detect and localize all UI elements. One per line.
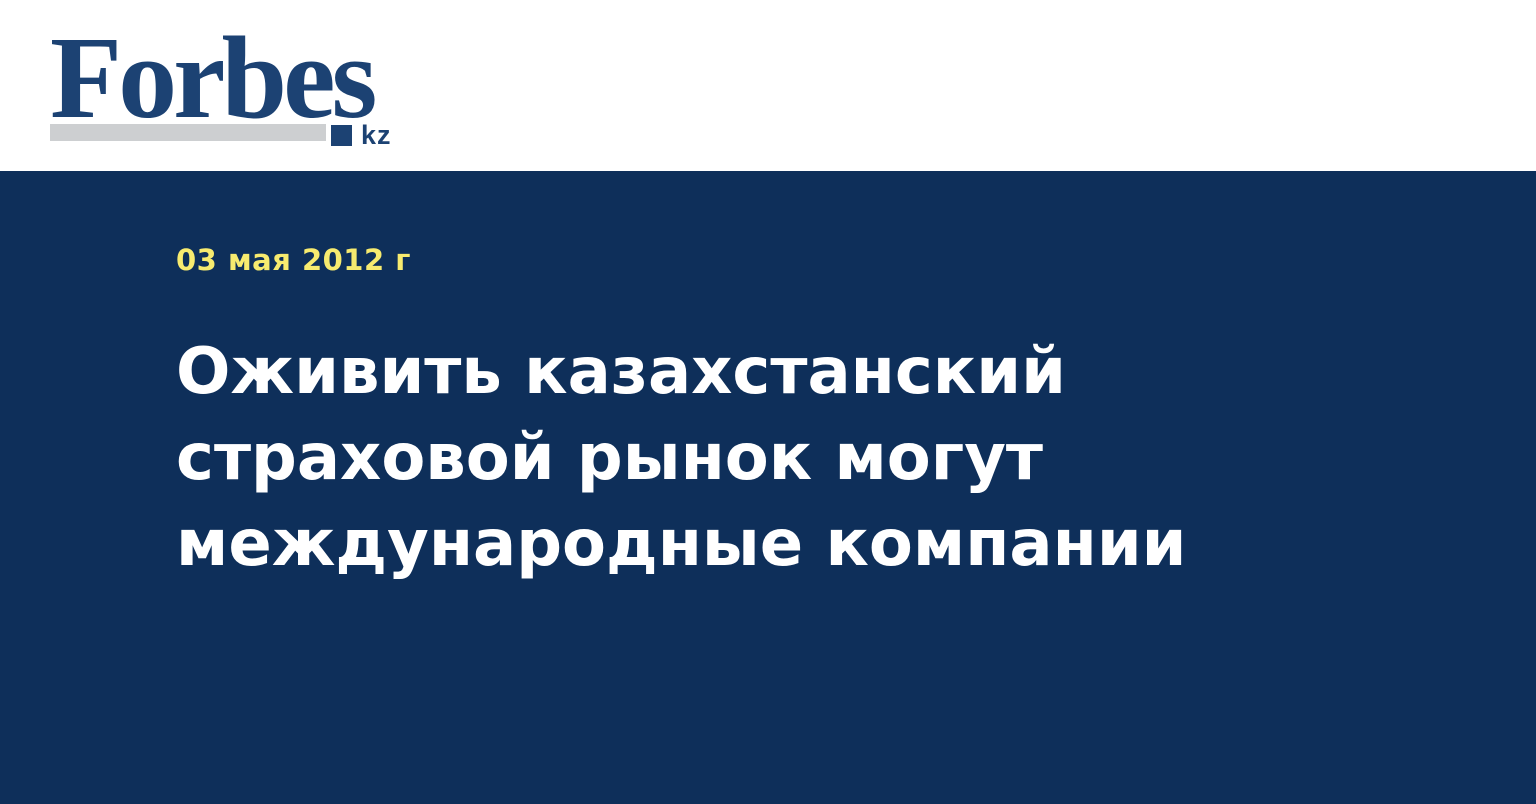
- site-header: Forbes kz: [0, 0, 1536, 171]
- brand-rule: [50, 124, 326, 141]
- forbes-kz-logo[interactable]: Forbes kz: [50, 22, 420, 144]
- article-hero-content: 03 мая 2012 г Оживить казахстанский стра…: [176, 243, 1356, 587]
- article-date: 03 мая 2012 г: [176, 243, 1356, 277]
- brand-suffix-label: kz: [361, 122, 392, 149]
- page-title: Оживить казахстанский страховой рынок мо…: [176, 329, 1356, 587]
- brand-square-icon: [331, 125, 352, 146]
- article-card: Forbes kz 03 мая 2012 г Оживить казахста…: [0, 0, 1536, 804]
- brand-wordmark: Forbes: [50, 22, 373, 134]
- page-title-line-1: Оживить казахстанский: [176, 329, 1356, 415]
- page-title-line-3: международные компании: [176, 501, 1356, 587]
- brand-suffix: kz: [331, 122, 392, 149]
- article-hero: 03 мая 2012 г Оживить казахстанский стра…: [0, 171, 1536, 804]
- page-title-line-2: страховой рынок могут: [176, 415, 1356, 501]
